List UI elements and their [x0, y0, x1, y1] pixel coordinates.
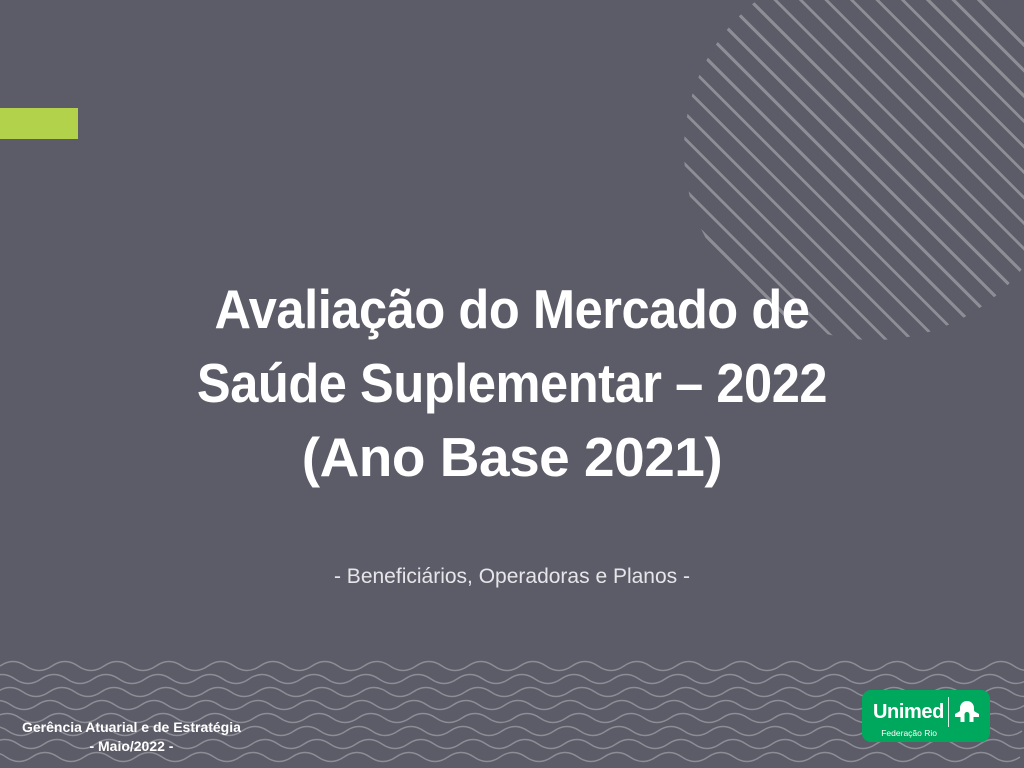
slide-title-line-3: (Ano Base 2021) — [0, 420, 1024, 494]
slide-title-block: Avaliação do Mercado de Saúde Suplementa… — [0, 272, 1024, 494]
footer-department: Gerência Atuarial e de Estratégia — [22, 719, 241, 735]
unimed-logo: Unimed Federação Rio — [862, 690, 990, 742]
unimed-logo-row: Unimed — [873, 697, 981, 727]
slide-subtitle: - Beneficiários, Operadoras e Planos - — [0, 565, 1024, 589]
unimed-logo-divider — [948, 697, 950, 727]
footer-date: - Maio/2022 - — [22, 737, 241, 756]
slide-title-line-1: Avaliação do Mercado de — [41, 272, 983, 346]
slide-title-line-2: Saúde Suplementar – 2022 — [41, 346, 983, 420]
unimed-logo-subtitle: Federação Rio — [873, 728, 981, 739]
unimed-wordmark: Unimed — [873, 702, 944, 722]
presentation-slide: Avaliação do Mercado de Saúde Suplementa… — [0, 0, 1024, 768]
unimed-symbol-icon — [954, 700, 980, 724]
green-accent-bar — [0, 108, 78, 139]
footer-credit: Gerência Atuarial e de Estratégia - Maio… — [22, 718, 241, 756]
